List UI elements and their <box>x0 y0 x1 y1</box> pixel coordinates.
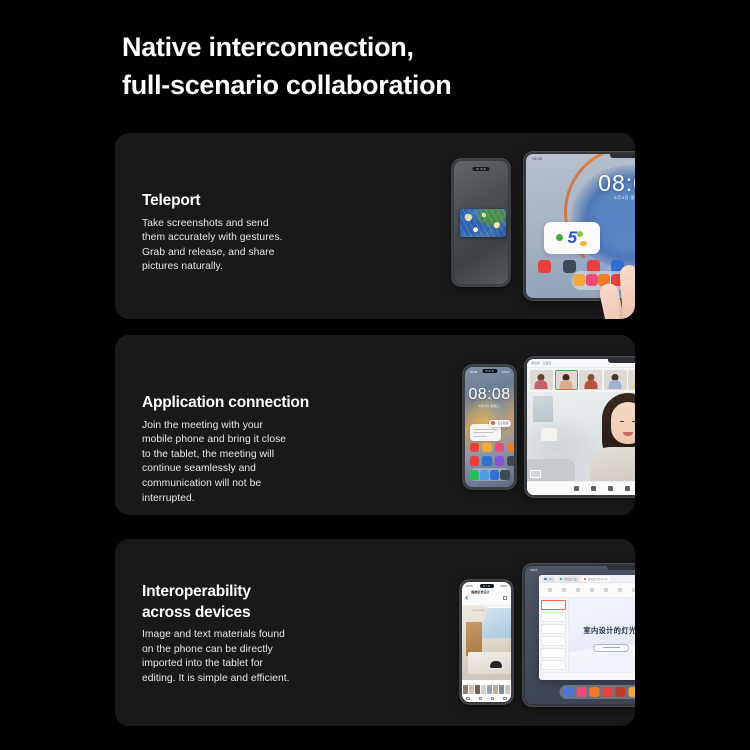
share-icon[interactable] <box>608 486 613 491</box>
slide-title: 室内设计的灯光艺术 <box>583 626 635 636</box>
edit-nav-icon[interactable] <box>491 697 494 700</box>
slide-canvas[interactable]: 室内设计的灯光艺术 <box>569 598 635 671</box>
tab-label: 灯光设计方案 <box>564 577 577 581</box>
dock-icon-1[interactable] <box>469 470 479 480</box>
notch-icon <box>608 359 636 363</box>
tablet-screen: 08:08 100% 文档灯光设计方案室内设计的灯光艺术 室内设计的灯光艺术 <box>525 566 635 703</box>
badge-dot-icon <box>491 421 496 426</box>
status-battery: 100% <box>502 370 510 374</box>
gallery-header: 阁楼卧室设计 2023年8月8日 <box>462 591 512 606</box>
participant-1[interactable] <box>530 370 553 390</box>
filmstrip-thumb-8[interactable] <box>505 685 510 694</box>
app-icon-2[interactable] <box>563 260 576 273</box>
phone-screen <box>454 161 509 285</box>
tab-color-icon <box>544 578 547 581</box>
dock-icon-5[interactable] <box>623 274 635 286</box>
editor-tab-1[interactable]: 文档 <box>542 576 554 582</box>
share-icon[interactable] <box>503 596 507 600</box>
slide-thumbnail-6[interactable] <box>541 660 566 670</box>
phone-screen: 08:08 100% 阁楼卧室设计 2023年8月8日 <box>462 582 512 703</box>
tablet-screen: 08:08 100% 08:08 8月8日 星期二 5 <box>526 154 635 297</box>
device-stage: 08:08 100% 08:08 8月8日 星期二 会议提醒 <box>115 335 635 515</box>
screenshot-thumbnail[interactable] <box>460 209 506 237</box>
feature-card-teleport: Teleport Take screenshots and send them … <box>115 133 635 319</box>
dock-icon-4[interactable] <box>603 687 613 697</box>
status-time: 08:08 <box>532 157 542 164</box>
tab-color-icon <box>560 578 563 581</box>
ribbon-button-2[interactable] <box>562 588 566 592</box>
app-icon-6[interactable] <box>482 456 492 466</box>
album-subtitle: 2023年8月8日 <box>471 610 485 612</box>
date-widget: 8月8日 星期二 <box>465 404 515 408</box>
dock-icon-5[interactable] <box>616 687 626 697</box>
page-title: Native interconnection, full-scenario co… <box>122 28 682 105</box>
date-widget: 8月8日 星期二 <box>526 195 635 201</box>
main-speaker-avatar <box>584 393 636 481</box>
filmstrip[interactable] <box>462 685 512 694</box>
delete-nav-icon[interactable] <box>503 697 506 700</box>
status-time: 08:08 <box>530 568 537 574</box>
notch-icon <box>610 154 636 158</box>
filmstrip-thumb-7[interactable] <box>499 685 504 694</box>
main-video-feed <box>527 392 635 480</box>
slide-thumbnail-panel[interactable] <box>539 598 569 671</box>
camera-pill-icon <box>480 584 494 588</box>
meeting-toolbar[interactable] <box>527 481 635 495</box>
feature-card-application-connection: Application connection Join the meeting … <box>115 335 635 515</box>
dock-icon-6[interactable] <box>629 687 636 697</box>
dock-icon-3[interactable] <box>598 274 610 286</box>
filmstrip-thumb-3[interactable] <box>475 685 480 694</box>
status-bar: 08:08 100% <box>526 157 635 164</box>
device-stage: 08:08 100% 阁楼卧室设计 2023年8月8日 <box>115 539 635 726</box>
tab-color-icon <box>584 578 587 581</box>
filmstrip-thumb-4[interactable] <box>481 685 486 694</box>
tab-label: 室内设计的灯光艺术 <box>588 577 608 581</box>
meeting-breadcrumb: 会议中 · 云会议 <box>531 361 551 365</box>
tab-label: 文档 <box>548 577 552 581</box>
app-icon-1[interactable] <box>538 260 551 273</box>
app-icon-grid[interactable] <box>470 443 510 466</box>
slide-subtitle-placeholder[interactable] <box>593 644 629 652</box>
phone-gallery-photo[interactable]: 08:08 100% 阁楼卧室设计 2023年8月8日 <box>460 580 513 704</box>
dock-icon-4[interactable] <box>611 274 623 286</box>
editor-tab-bar[interactable]: 文档灯光设计方案室内设计的灯光艺术 <box>539 575 635 583</box>
editor-status-bar <box>539 672 635 680</box>
album-title: 阁楼卧室设计 <box>471 590 490 594</box>
app-dock[interactable] <box>560 685 636 699</box>
editor-tab-2[interactable]: 灯光设计方案 <box>558 576 579 582</box>
tablet-video-meeting[interactable]: 会议中 · 云会议 <box>525 357 635 497</box>
slide-thumbnail-1[interactable] <box>541 600 566 610</box>
app-dock[interactable] <box>469 468 511 481</box>
status-time: 08:08 <box>466 584 473 590</box>
favorite-nav-icon[interactable] <box>479 697 482 700</box>
participant-2[interactable] <box>555 370 578 390</box>
participant-3[interactable] <box>579 370 602 390</box>
filmstrip-thumb-6[interactable] <box>493 685 498 694</box>
dock-icon-2[interactable] <box>586 274 598 286</box>
slide-thumbnail-2[interactable] <box>541 612 566 622</box>
bottom-nav-bar[interactable] <box>462 694 512 702</box>
filmstrip-thumb-2[interactable] <box>469 685 474 694</box>
slide-thumbnail-3[interactable] <box>541 624 566 634</box>
slide-thumbnail-4[interactable] <box>541 636 566 646</box>
ribbon-button-6[interactable] <box>618 588 622 592</box>
app-icon-1[interactable] <box>470 443 480 453</box>
dock-icon-2[interactable] <box>577 687 587 697</box>
ribbon-button-7[interactable] <box>632 588 635 592</box>
clock-widget: 08:08 <box>465 386 515 404</box>
mic-icon[interactable] <box>574 486 579 491</box>
editor-ribbon-toolbar[interactable] <box>539 583 635 598</box>
ribbon-button-5[interactable] <box>604 588 608 592</box>
camera-pill-icon <box>473 167 490 172</box>
calendar-day-number: 5 <box>568 228 577 248</box>
dock-icon-2[interactable] <box>480 470 490 480</box>
app-icon-2[interactable] <box>482 443 492 453</box>
participant-5[interactable] <box>628 370 635 390</box>
participant-strip[interactable] <box>527 368 635 392</box>
app-icon-8[interactable] <box>507 456 514 466</box>
app-icon-3[interactable] <box>495 443 505 453</box>
share-nav-icon[interactable] <box>466 697 469 700</box>
editor-tab-3[interactable]: 室内设计的灯光艺术 <box>582 576 610 582</box>
app-icon-7[interactable] <box>495 456 505 466</box>
participant-4[interactable] <box>604 370 627 390</box>
lamp-decor <box>541 428 557 441</box>
calendar-widget[interactable]: 5 <box>544 222 600 254</box>
gallery-photo[interactable] <box>462 606 512 681</box>
tablet-presentation-editor[interactable]: 08:08 100% 文档灯光设计方案室内设计的灯光艺术 室内设计的灯光艺术 <box>523 564 635 706</box>
app-icon-5[interactable] <box>470 456 480 466</box>
editor-window: 文档灯光设计方案室内设计的灯光艺术 室内设计的灯光艺术 <box>539 575 635 679</box>
phone-home-screen[interactable]: 08:08 100% 08:08 8月8日 星期二 会议提醒 <box>463 365 516 489</box>
app-dock[interactable] <box>572 271 635 290</box>
filmstrip-thumb-5[interactable] <box>487 685 492 694</box>
tablet-screen: 会议中 · 云会议 <box>527 359 635 494</box>
promo-page: Native interconnection, full-scenario co… <box>0 0 750 750</box>
ribbon-button-4[interactable] <box>590 588 594 592</box>
dock-icon-1[interactable] <box>564 687 574 697</box>
dock-icon-4[interactable] <box>500 470 510 480</box>
status-battery: 100% <box>500 584 507 590</box>
self-view-thumbnail[interactable] <box>530 470 541 478</box>
status-time: 08:08 <box>470 370 478 374</box>
meeting-reminder-badge[interactable]: 会议提醒 <box>489 420 511 427</box>
window-background <box>533 396 553 422</box>
tablet-home-screen[interactable]: 08:08 100% 08:08 8月8日 星期二 5 <box>524 152 635 300</box>
ribbon-button-1[interactable] <box>548 588 552 592</box>
camera-pill-icon <box>482 369 497 373</box>
dock-icon-1[interactable] <box>573 274 585 286</box>
phone-screen: 08:08 100% 08:08 8月8日 星期二 会议提醒 <box>465 367 515 488</box>
filmstrip-thumb-1[interactable] <box>463 685 468 694</box>
slide-thumbnail-5[interactable] <box>541 648 566 658</box>
camera-icon[interactable] <box>591 486 596 491</box>
notch-icon <box>607 566 635 570</box>
back-icon[interactable] <box>465 596 469 600</box>
clock-widget: 08:08 <box>526 170 635 197</box>
dock-icon-3[interactable] <box>490 470 500 480</box>
dock-icon-3[interactable] <box>590 687 600 697</box>
members-icon[interactable] <box>625 486 630 491</box>
ribbon-button-3[interactable] <box>576 588 580 592</box>
badge-label: 会议提醒 <box>497 421 508 425</box>
feature-card-interoperability: Interoperability across devices Image an… <box>115 539 635 726</box>
app-icon-4[interactable] <box>507 443 514 453</box>
device-stage: 08:08 100% 08:08 8月8日 星期二 5 <box>115 133 635 319</box>
phone-with-screenshot-thumbnail[interactable] <box>452 159 510 286</box>
